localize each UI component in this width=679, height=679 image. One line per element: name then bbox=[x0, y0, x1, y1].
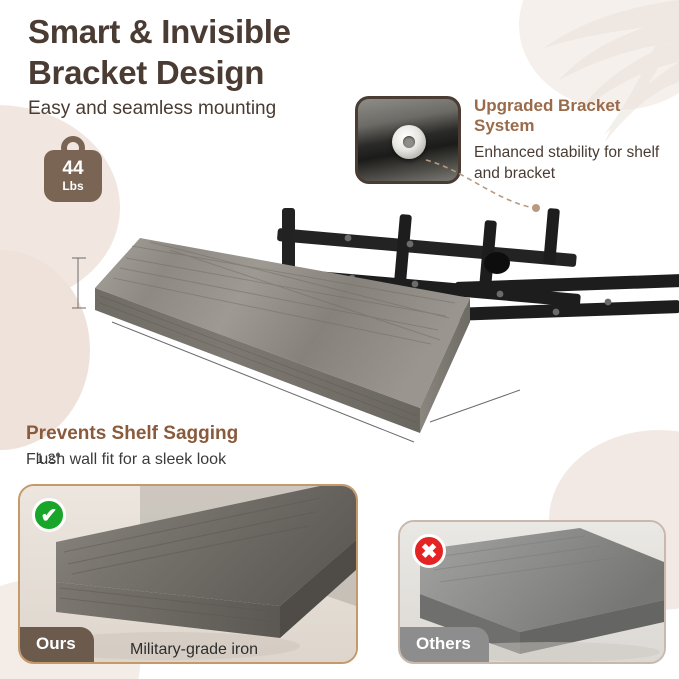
shelf-and-bracket-drawing bbox=[0, 190, 679, 450]
product-infographic: Smart & Invisible Bracket Design Easy an… bbox=[0, 0, 679, 679]
headline-line-1: Smart & Invisible bbox=[28, 12, 448, 53]
ours-caption: Military-grade iron bbox=[130, 641, 258, 659]
sagging-subtitle: Flush wall fit for a sleek look bbox=[26, 451, 226, 469]
bracket-callout-title: Upgraded Bracket System bbox=[474, 96, 679, 137]
headline-line-2: Bracket Design bbox=[28, 53, 448, 94]
wood-shelf bbox=[95, 238, 470, 433]
comparison-panel-ours: ✔ Ours bbox=[18, 484, 358, 664]
page-subtitle: Easy and seamless mounting bbox=[28, 98, 276, 120]
weight-value: 44 bbox=[44, 158, 102, 180]
bracket-callout-description: Enhanced stability for shelf and bracket bbox=[474, 143, 679, 185]
bracket-detail-magnifier bbox=[355, 96, 461, 184]
background-blob-top-right bbox=[519, 0, 679, 110]
ours-label-badge: Ours bbox=[20, 627, 94, 662]
others-label-badge: Others bbox=[400, 627, 489, 662]
check-mark-icon: ✔ bbox=[32, 498, 66, 532]
comparison-panel-others: ✖ Others bbox=[398, 520, 666, 664]
cross-mark-icon: ✖ bbox=[412, 534, 446, 568]
page-title: Smart & Invisible Bracket Design bbox=[28, 12, 448, 94]
shelf-illustration: 1.2" 24" 8" bbox=[0, 190, 679, 450]
sagging-title: Prevents Shelf Sagging bbox=[26, 423, 238, 445]
bracket-screw-hole-icon bbox=[403, 136, 415, 148]
